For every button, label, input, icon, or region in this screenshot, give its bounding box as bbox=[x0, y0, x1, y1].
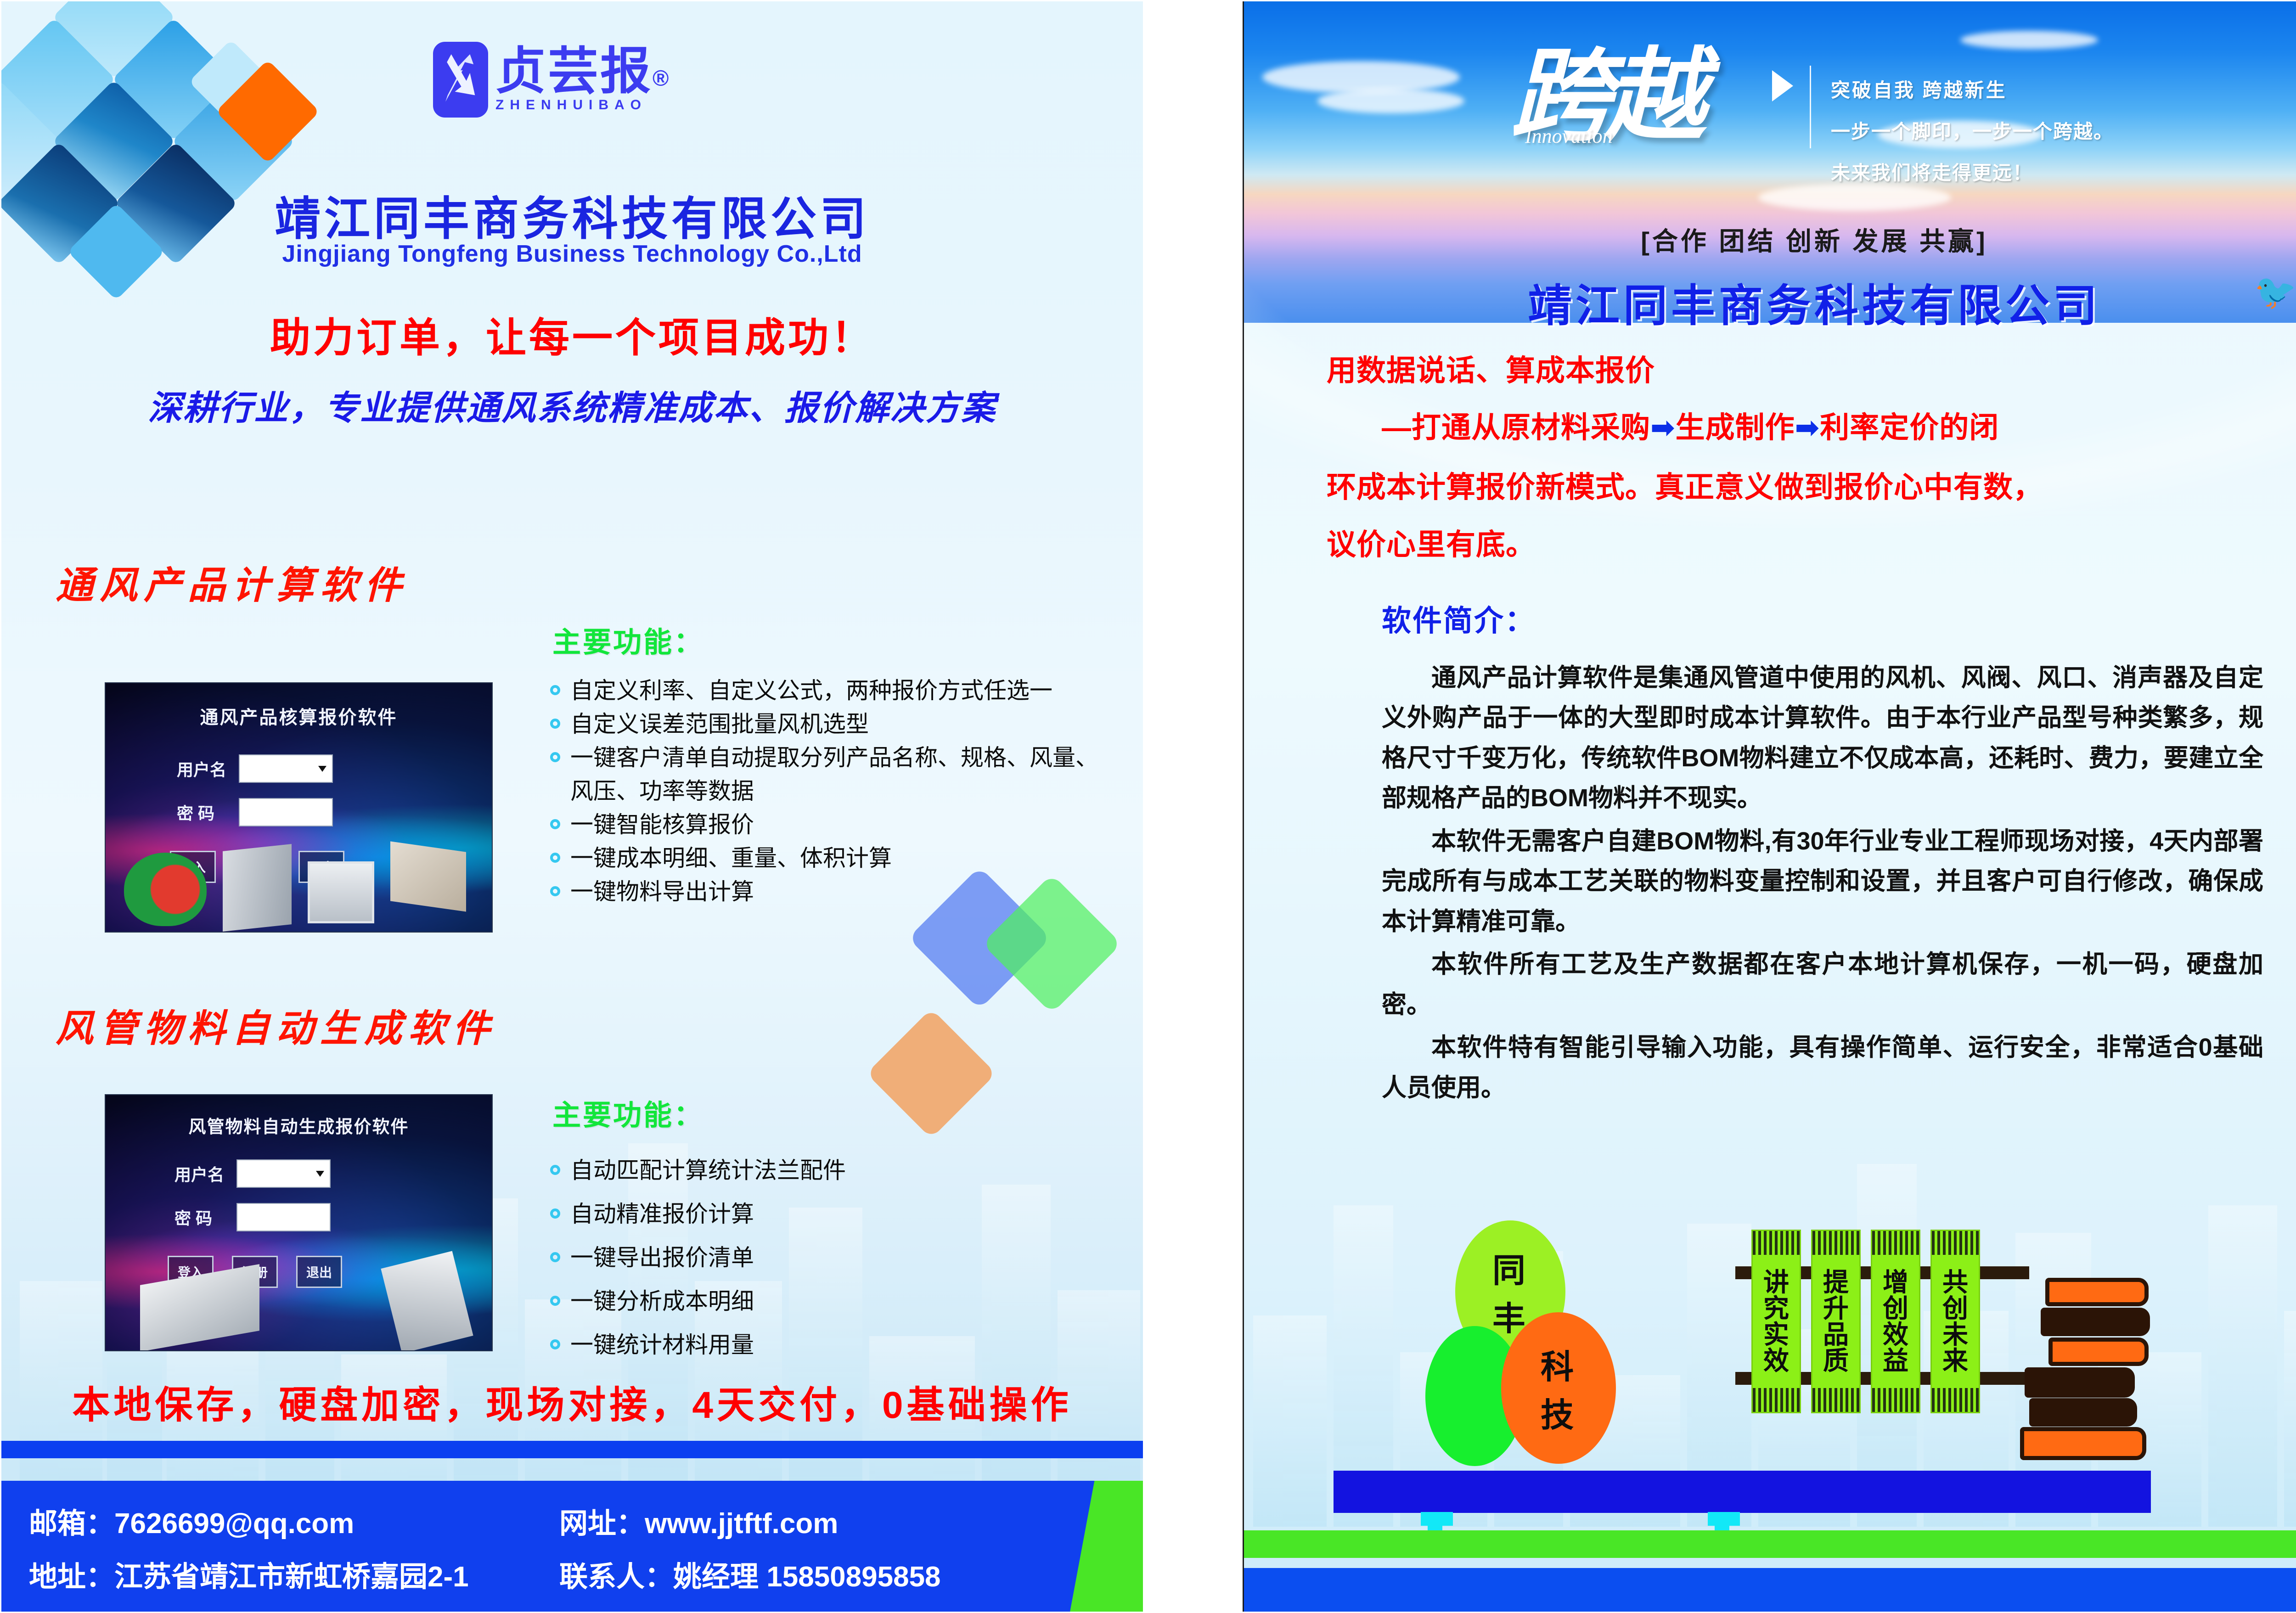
website-label: 网址： bbox=[559, 1508, 645, 1540]
vertical-divider bbox=[1810, 66, 1811, 148]
book-dark-1 bbox=[2041, 1308, 2150, 1336]
contact-footer: 邮箱：7626699@qq.com 网址：www.jjtftf.com 地址：江… bbox=[1, 1481, 1143, 1612]
banner-ornament-top bbox=[1812, 1231, 1859, 1255]
hero-motto: [合作 团结 创新 发展 共赢] bbox=[1244, 221, 2296, 258]
banner-ornament-bottom bbox=[1812, 1388, 1859, 1412]
duct-product-image bbox=[390, 841, 466, 911]
software-screenshot-1: 通风产品核算报价软件 用户名 密 码 登入 注册 退出 bbox=[105, 682, 493, 933]
screenshot-2-exit-button[interactable]: 退出 bbox=[296, 1256, 342, 1288]
intro-paragraph: 本软件所有工艺及生产数据都在客户本地计算机保存，一机一码，硬盘加密。 bbox=[1382, 944, 2263, 1025]
chevron-down-icon[interactable] bbox=[318, 766, 326, 772]
features-list-1: 自定义利率、自定义公式，两种报价方式任选一 自定义误差范围批量风机选型 一键客户… bbox=[550, 674, 1108, 909]
z-arrow-glyph bbox=[439, 48, 482, 107]
arrow-right-icon-1: ➡ bbox=[1650, 405, 1676, 450]
feature-item: 一键智能核算报价 bbox=[550, 808, 1108, 842]
screenshot-2-username-input[interactable] bbox=[236, 1159, 331, 1188]
feature-item: 一键分析成本明细 bbox=[550, 1285, 1108, 1318]
email-value[interactable]: 7626699@qq.com bbox=[114, 1508, 354, 1540]
section-title-1: 通风产品计算软件 bbox=[56, 555, 408, 609]
bullet-icon bbox=[550, 853, 560, 863]
contact-row: 联系人：姚经理 15850895858 bbox=[559, 1553, 941, 1595]
intro-heading: 软件简介： bbox=[1382, 597, 1536, 640]
features-head-2: 主要功能： bbox=[552, 1092, 704, 1133]
feature-item: 自定义利率、自定义公式，两种报价方式任选一 bbox=[550, 674, 1108, 708]
intro-paragraph: 本软件无需客户自建BOM物料,有30年行业专业工程师现场对接，4天内部署完成所有… bbox=[1382, 821, 2263, 942]
registered-mark: ® bbox=[653, 67, 669, 91]
screenshot-2-username-label: 用户名 bbox=[174, 1162, 236, 1186]
feature-text: 一键分析成本明细 bbox=[570, 1285, 754, 1318]
company-name-en: Jingjiang Tongfeng Business Technology C… bbox=[1, 240, 1143, 268]
screenshot-1-username-label: 用户名 bbox=[177, 757, 239, 781]
book-dark-2 bbox=[2025, 1367, 2135, 1398]
feature-text: 一键统计材料用量 bbox=[570, 1328, 754, 1362]
intro-paragraph: 通风产品计算软件是集通风管道中使用的风机、风阀、风口、消声器及自定义外购产品于一… bbox=[1382, 658, 2263, 819]
address-value: 江苏省靖江市新虹桥嘉园2-1 bbox=[114, 1561, 469, 1593]
headline-line-2: —打通从原材料采购➡生成制作➡利率定价的闭 bbox=[1382, 405, 2296, 450]
banner-1-text: 讲究实效 bbox=[1763, 1255, 1789, 1388]
banner-2-text: 提升品质 bbox=[1823, 1255, 1849, 1388]
grille-product-image bbox=[308, 861, 374, 923]
banner-ornament-bottom bbox=[1753, 1388, 1800, 1412]
hero-innovation-text: Innovation bbox=[1525, 124, 1613, 148]
green-strip-bar bbox=[1244, 1530, 2296, 1558]
website-value[interactable]: www.jjtftf.com bbox=[645, 1508, 838, 1540]
book-orange-2 bbox=[2048, 1338, 2149, 1366]
right-flyer-panel: 跨越 Innovation 突破自我 跨越新生 一步一个脚印，一步一个跨越。 未… bbox=[1243, 1, 2296, 1612]
book-dark-3 bbox=[2029, 1398, 2137, 1427]
bullet-icon bbox=[550, 1208, 560, 1219]
address-row: 地址：江苏省靖江市新虹桥嘉园2-1 bbox=[29, 1553, 469, 1595]
bullet-icon bbox=[550, 1165, 560, 1175]
blue-footer-bar bbox=[1244, 1568, 2296, 1612]
feature-text: 自动匹配计算统计法兰配件 bbox=[570, 1154, 846, 1187]
bottom-highlight-text: 本地保存，硬盘加密，现场对接，4天交付，0基础操作 bbox=[1, 1374, 1143, 1429]
brand-logo: 贞芸报® ZHENHUIBAO bbox=[433, 42, 669, 118]
website-row: 网址：www.jjtftf.com bbox=[559, 1500, 838, 1541]
banner-4-text: 共创未来 bbox=[1942, 1255, 1968, 1388]
banner-ornament-top bbox=[1753, 1231, 1800, 1255]
footer-green-accent bbox=[1069, 1481, 1143, 1612]
bullet-icon bbox=[550, 719, 560, 729]
intro-paragraph: 本软件特有智能引导输入功能，具有操作简单、运行安全，非常适合0基础人员使用。 bbox=[1382, 1028, 2263, 1108]
feature-item: 一键成本明细、重量、体积计算 bbox=[550, 842, 1108, 875]
left-flyer-panel: 贞芸报® ZHENHUIBAO 靖江同丰商务科技有限公司 Jingjiang T… bbox=[1, 1, 1143, 1612]
feature-text: 自定义误差范围批量风机选型 bbox=[570, 708, 869, 741]
headline-2a: —打通从原材料采购 bbox=[1382, 411, 1650, 444]
intro-body: 通风产品计算软件是集通风管道中使用的风机、风阀、风口、消声器及自定义外购产品于一… bbox=[1382, 658, 2263, 1111]
book-orange-3 bbox=[2020, 1427, 2146, 1460]
bullet-icon bbox=[550, 685, 560, 695]
feature-text: 自定义利率、自定义公式，两种报价方式任选一 bbox=[570, 674, 1052, 708]
feature-text: 一键智能核算报价 bbox=[570, 808, 754, 842]
bullet-icon bbox=[550, 886, 560, 896]
banner-ornament-top bbox=[1872, 1231, 1919, 1255]
features-list-2: 自动匹配计算统计法兰配件 自动精准报价计算 一键导出报价清单 一键分析成本明细 … bbox=[550, 1154, 1108, 1362]
screenshot-2-password-input[interactable] bbox=[236, 1203, 331, 1231]
screenshot-2-title: 风管物料自动生成报价软件 bbox=[106, 1113, 492, 1138]
bullet-icon bbox=[550, 1252, 560, 1262]
blue-shelf-slab bbox=[1334, 1471, 2151, 1513]
seagull-icon-1: 🐦 bbox=[2254, 272, 2296, 312]
feature-text: 一键物料导出计算 bbox=[570, 875, 754, 909]
feature-item: 自动匹配计算统计法兰配件 bbox=[550, 1154, 1108, 1187]
fan-product-image bbox=[124, 853, 207, 926]
banner-ornament-top bbox=[1932, 1231, 1979, 1255]
banner-4: 共创未来 bbox=[1930, 1230, 1980, 1413]
feature-item: 一键统计材料用量 bbox=[550, 1328, 1108, 1362]
flyer-page: 贞芸报® ZHENHUIBAO 靖江同丰商务科技有限公司 Jingjiang T… bbox=[0, 0, 2296, 1613]
headline-line-1: 用数据说话、算成本报价 bbox=[1327, 348, 2236, 393]
feature-item: 自定义误差范围批量风机选型 bbox=[550, 708, 1108, 741]
slogan-secondary: 深耕行业，专业提供通风系统精准成本、报价解决方案 bbox=[1, 381, 1143, 430]
play-triangle-icon bbox=[1772, 70, 1793, 101]
banner-3-text: 增创效益 bbox=[1883, 1255, 1908, 1388]
headline-line-3: 环成本计算报价新模式。真正意义做到报价心中有数， bbox=[1327, 465, 2236, 510]
bullet-icon bbox=[550, 819, 560, 829]
features-head-1: 主要功能： bbox=[552, 619, 704, 660]
screenshot-1-title: 通风产品核算报价软件 bbox=[106, 703, 492, 729]
logo-en-text: ZHENHUIBAO bbox=[495, 99, 669, 112]
banner-ornament-bottom bbox=[1872, 1388, 1919, 1412]
email-label: 邮箱： bbox=[29, 1508, 114, 1540]
contact-value: 姚经理 15850895858 bbox=[673, 1561, 941, 1593]
feature-text: 一键导出报价清单 bbox=[570, 1241, 754, 1275]
company-name-cn: 靖江同丰商务科技有限公司 bbox=[1, 181, 1143, 248]
logo-wordmark: 贞芸报® ZHENHUIBAO bbox=[495, 48, 669, 112]
logo-cn-text: 贞芸报 bbox=[495, 43, 653, 100]
feature-item: 一键客户清单自动提取分列产品名称、规格、风量、风压、功率等数据 bbox=[550, 741, 1108, 808]
hero-line-1: 突破自我 跨越新生 bbox=[1831, 75, 2007, 103]
headline-2b: 生成制作 bbox=[1676, 411, 1795, 444]
damper-product-image bbox=[223, 844, 292, 932]
banner-1: 讲究实效 bbox=[1751, 1230, 1801, 1413]
ellipse-keji: 科技 bbox=[1501, 1312, 1616, 1464]
blue-divider-rule bbox=[1, 1441, 1143, 1458]
chevron-down-icon[interactable] bbox=[316, 1171, 324, 1177]
screenshot-1-password-label: 密 码 bbox=[177, 800, 239, 824]
screenshot-1-password-input[interactable] bbox=[239, 798, 333, 826]
feature-text: 一键成本明细、重量、体积计算 bbox=[570, 842, 892, 875]
book-orange-1 bbox=[2045, 1278, 2149, 1306]
headline-2c: 利率定价的闭 bbox=[1820, 411, 1999, 444]
screenshot-1-username-input[interactable] bbox=[239, 754, 333, 783]
banner-ornament-bottom bbox=[1932, 1388, 1979, 1412]
software-screenshot-2: 风管物料自动生成报价软件 用户名 密 码 登入 注册 退出 bbox=[105, 1094, 493, 1351]
banner-2: 提升品质 bbox=[1811, 1230, 1861, 1413]
hero-line-2: 一步一个脚印，一步一个跨越。 bbox=[1831, 116, 2114, 144]
address-label: 地址： bbox=[29, 1561, 114, 1593]
logo-z-arrow-icon bbox=[433, 42, 488, 118]
contact-label: 联系人： bbox=[559, 1561, 673, 1593]
email-row: 邮箱：7626699@qq.com bbox=[29, 1500, 354, 1541]
feature-item: 自动精准报价计算 bbox=[550, 1197, 1108, 1231]
banner-3: 增创效益 bbox=[1871, 1230, 1920, 1413]
right-company-name: 靖江同丰商务科技有限公司 bbox=[1244, 270, 2296, 334]
feature-text: 自动精准报价计算 bbox=[570, 1197, 754, 1231]
feature-item: 一键导出报价清单 bbox=[550, 1241, 1108, 1275]
hero-line-3: 未来我们将走得更远！ bbox=[1831, 157, 2033, 185]
bullet-icon bbox=[550, 1296, 560, 1306]
screenshot-2-password-label: 密 码 bbox=[174, 1205, 236, 1229]
feature-text: 一键客户清单自动提取分列产品名称、规格、风量、风压、功率等数据 bbox=[570, 741, 1108, 808]
bullet-icon bbox=[550, 1339, 560, 1349]
arrow-right-icon-2: ➡ bbox=[1795, 405, 1820, 450]
section-title-2: 风管物料自动生成软件 bbox=[56, 998, 496, 1052]
slogan-primary: 助力订单，让每一个项目成功！ bbox=[1, 305, 1143, 364]
bullet-icon bbox=[550, 752, 560, 762]
headline-line-4: 议价心里有底。 bbox=[1327, 523, 2236, 567]
